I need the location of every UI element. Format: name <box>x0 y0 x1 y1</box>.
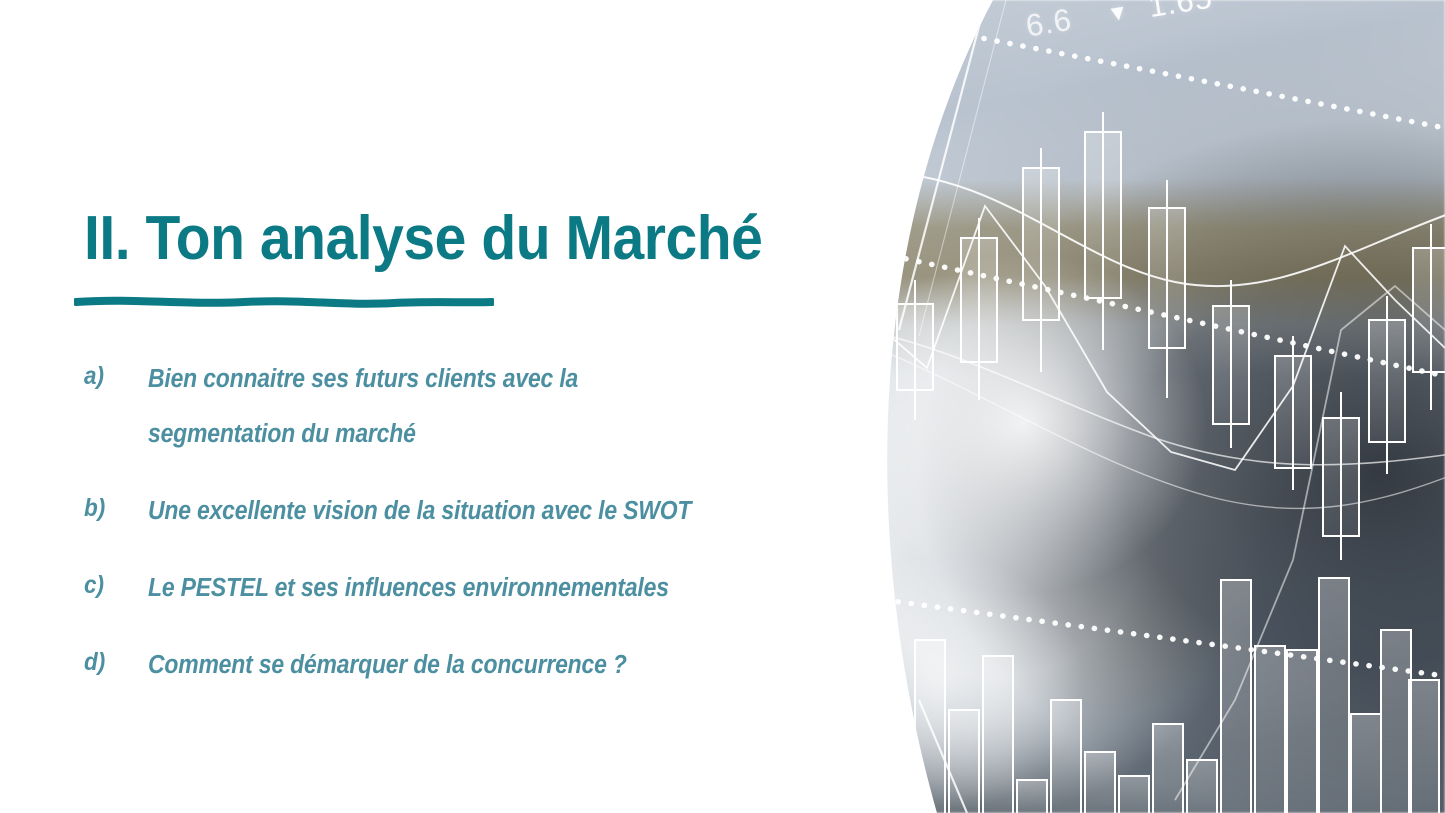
list-item-marker: a) <box>84 352 142 400</box>
presentation-slide: II. Ton analyse du Marché a) Bien connai… <box>0 0 1445 813</box>
list-item-marker: b) <box>84 484 142 532</box>
bar-series <box>881 578 1439 813</box>
slide-content-area: II. Ton analyse du Marché a) Bien connai… <box>0 0 880 813</box>
candlestick-series <box>897 112 1445 560</box>
list-item-marker: c) <box>84 561 142 609</box>
list-item: a) Bien connaitre ses futurs clients ave… <box>84 352 874 462</box>
bullet-list: a) Bien connaitre ses futurs clients ave… <box>84 352 874 715</box>
stock-chart-svg <box>875 0 1445 813</box>
list-item: b) Une excellente vision de la situation… <box>84 484 874 539</box>
list-item: d) Comment se démarquer de la concurrenc… <box>84 638 874 693</box>
list-item-marker: d) <box>84 638 142 686</box>
list-item-label: Une excellente vision de la situation av… <box>148 484 778 539</box>
decorative-photo-panel: 6.6 ▼ 1.65 <box>875 0 1445 813</box>
title-underline-svg <box>74 293 494 311</box>
list-item: c) Le PESTEL et ses influences environne… <box>84 561 874 616</box>
page-title: II. Ton analyse du Marché <box>84 208 762 270</box>
list-item-label: Bien connaitre ses futurs clients avec l… <box>148 352 724 462</box>
photo-arc-clip: 6.6 ▼ 1.65 <box>875 0 1445 813</box>
list-item-label: Comment se démarquer de la concurrence ? <box>148 638 778 693</box>
list-item-label: Le PESTEL et ses influences environnemen… <box>148 561 778 616</box>
stock-chart-overlay <box>875 0 1445 813</box>
title-underline-rule <box>74 293 494 311</box>
